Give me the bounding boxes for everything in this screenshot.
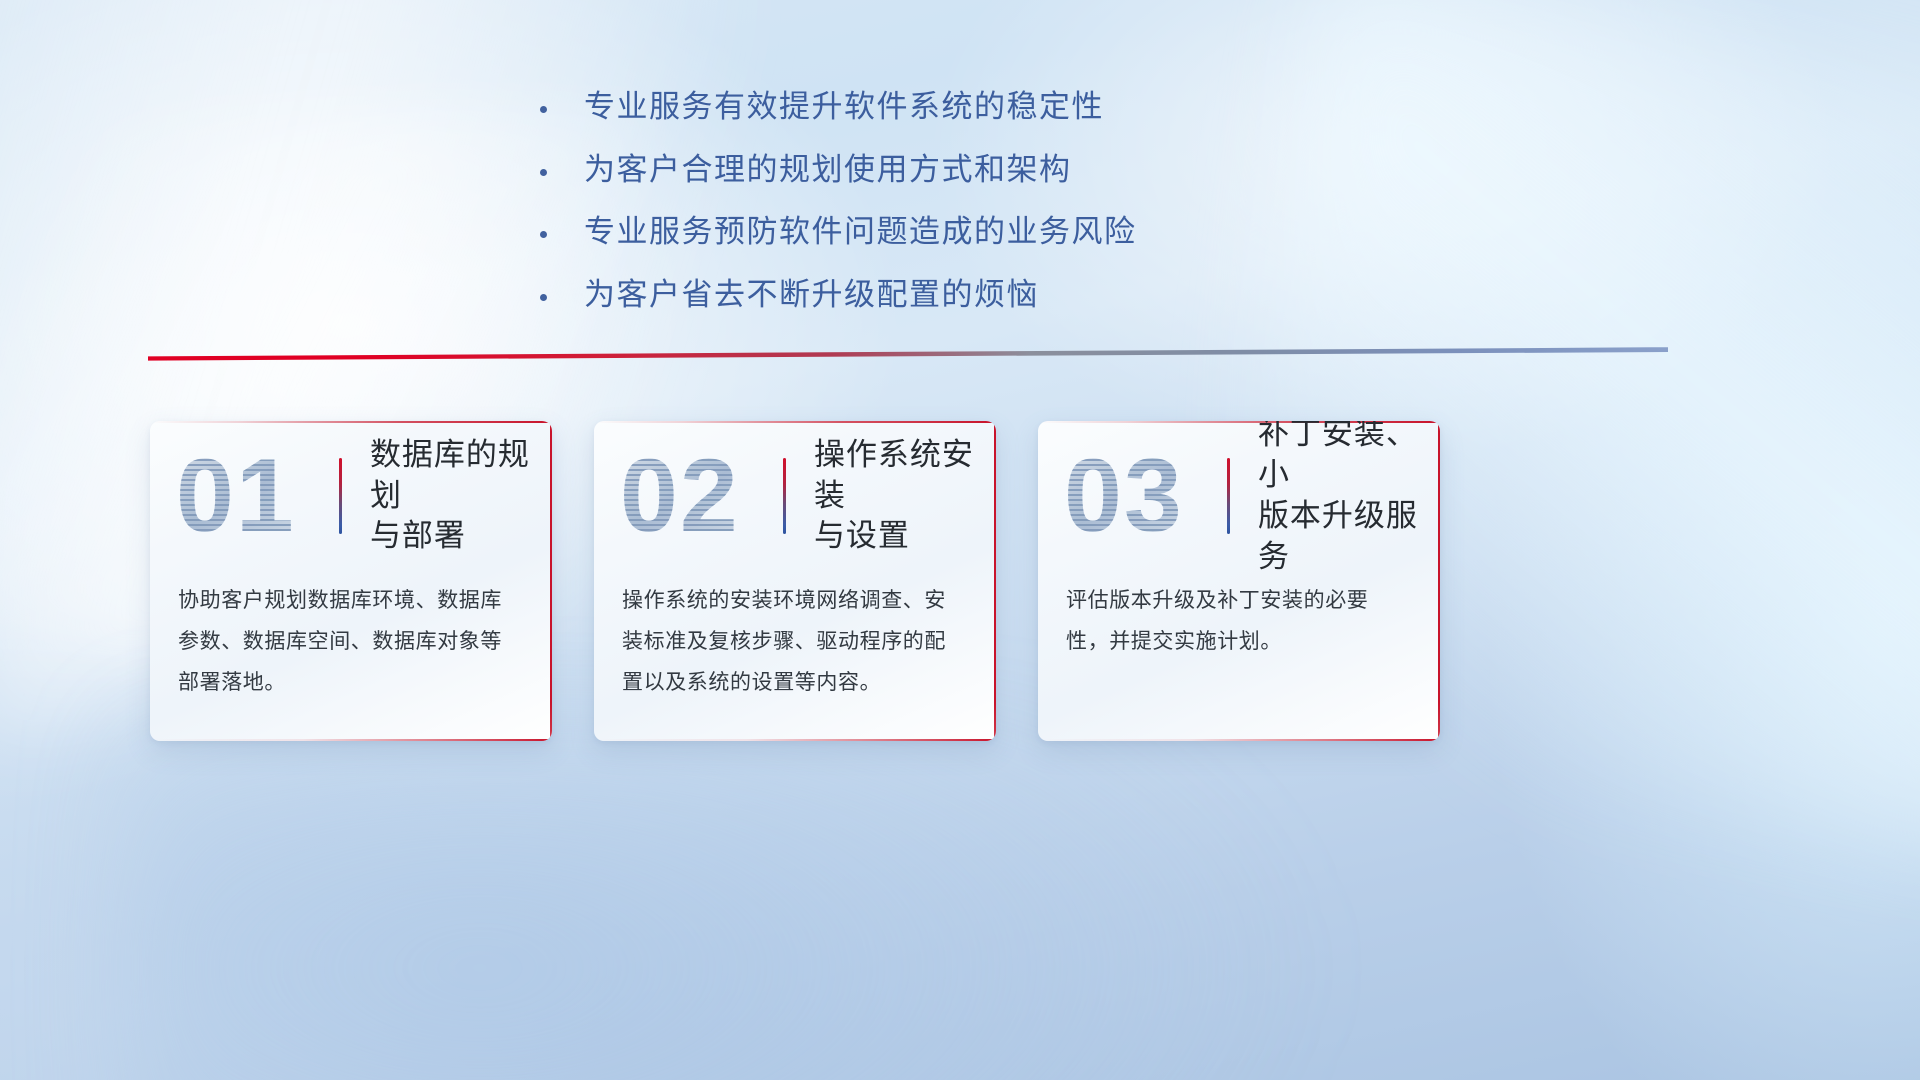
card-number: 01 bbox=[176, 444, 339, 548]
bullet-item-label: 专业服务有效提升软件系统的稳定性 bbox=[584, 84, 1104, 131]
card-number: 03 bbox=[1064, 444, 1227, 548]
bullet-item: 为客户合理的规划使用方式和架构 bbox=[540, 147, 1440, 194]
benefits-bullet-list: 专业服务有效提升软件系统的稳定性 为客户合理的规划使用方式和架构 专业服务预防软… bbox=[540, 84, 1440, 334]
gradient-wedge-divider bbox=[148, 347, 1668, 361]
card-description: 协助客户规划数据库环境、数据库参数、数据库空间、数据库对象等部署落地。 bbox=[150, 571, 552, 704]
bullet-item-label: 专业服务预防软件问题造成的业务风险 bbox=[584, 209, 1137, 256]
card-divider-bar bbox=[339, 458, 342, 534]
card-divider-bar bbox=[1227, 458, 1230, 534]
service-card[interactable]: 02 操作系统安装 与设置 操作系统的安装环境网络调查、安装标准及复核步骤、驱动… bbox=[594, 421, 996, 741]
bullet-item: 专业服务预防软件问题造成的业务风险 bbox=[540, 209, 1440, 256]
bullet-item: 为客户省去不断升级配置的烦恼 bbox=[540, 272, 1440, 319]
bullet-item: 专业服务有效提升软件系统的稳定性 bbox=[540, 84, 1440, 131]
bullet-dot-icon bbox=[540, 294, 550, 301]
card-title: 补丁安装、小 版本升级服务 bbox=[1258, 421, 1440, 578]
service-card[interactable]: 01 数据库的规划 与部署 协助客户规划数据库环境、数据库参数、数据库空间、数据… bbox=[150, 421, 552, 741]
card-accent-bottom-edge bbox=[594, 739, 996, 741]
card-description: 操作系统的安装环境网络调查、安装标准及复核步骤、驱动程序的配置以及系统的设置等内… bbox=[594, 571, 996, 704]
card-divider-bar bbox=[783, 458, 786, 534]
bullet-dot-icon bbox=[540, 169, 550, 176]
bullet-dot-icon bbox=[540, 106, 550, 113]
bullet-item-label: 为客户省去不断升级配置的烦恼 bbox=[584, 272, 1039, 319]
service-card-list: 01 数据库的规划 与部署 协助客户规划数据库环境、数据库参数、数据库空间、数据… bbox=[150, 421, 1770, 741]
card-header: 03 补丁安装、小 版本升级服务 bbox=[1038, 421, 1440, 571]
card-accent-bottom-edge bbox=[150, 739, 552, 741]
card-title: 操作系统安装 与设置 bbox=[814, 435, 996, 558]
card-header: 02 操作系统安装 与设置 bbox=[594, 421, 996, 571]
card-number: 02 bbox=[620, 444, 783, 548]
card-title: 数据库的规划 与部署 bbox=[370, 435, 552, 558]
bullet-item-label: 为客户合理的规划使用方式和架构 bbox=[584, 147, 1072, 194]
slide-canvas: 专业服务有效提升软件系统的稳定性 为客户合理的规划使用方式和架构 专业服务预防软… bbox=[0, 0, 1920, 1080]
card-description: 评估版本升级及补丁安装的必要性，并提交实施计划。 bbox=[1038, 571, 1440, 663]
background-glow-bottom bbox=[120, 720, 1320, 1080]
card-accent-bottom-edge bbox=[1038, 739, 1440, 741]
card-header: 01 数据库的规划 与部署 bbox=[150, 421, 552, 571]
bullet-dot-icon bbox=[540, 231, 550, 238]
service-card[interactable]: 03 补丁安装、小 版本升级服务 评估版本升级及补丁安装的必要性，并提交实施计划… bbox=[1038, 421, 1440, 741]
